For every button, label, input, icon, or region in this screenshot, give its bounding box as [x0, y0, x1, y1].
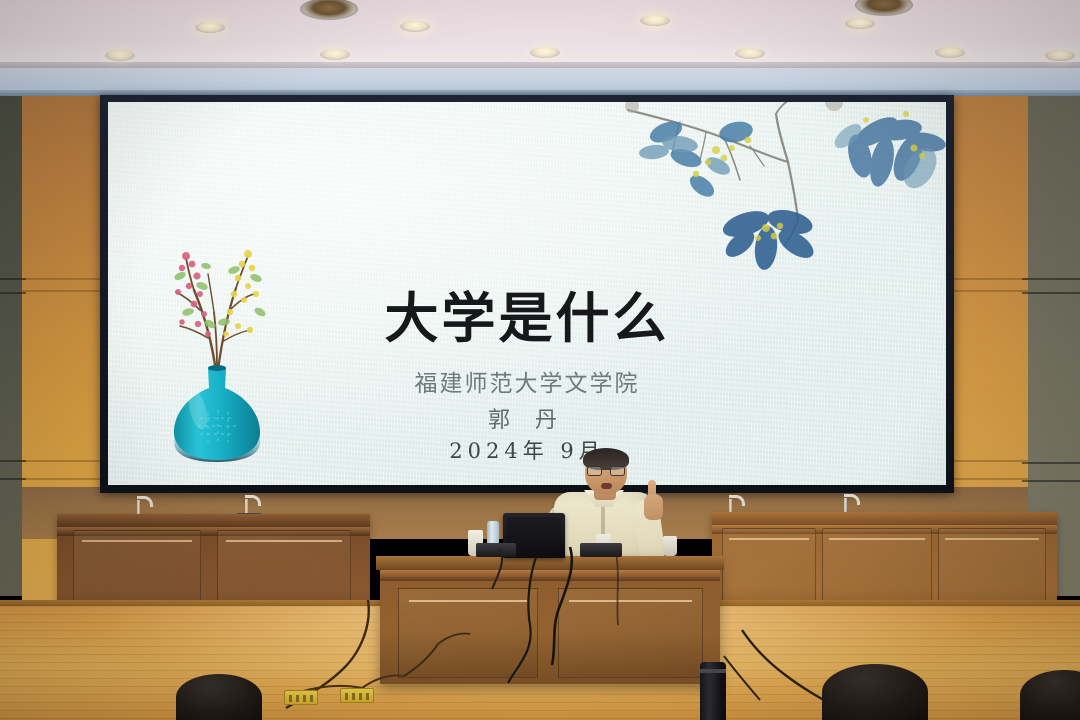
- wall-seam: [0, 278, 26, 280]
- wall-seam: [22, 460, 104, 462]
- power-strip: [340, 688, 374, 703]
- downlight-icon: [105, 50, 135, 61]
- wall-seam: [952, 290, 1028, 292]
- wall-seam: [952, 460, 1028, 462]
- wall-seam: [0, 478, 26, 480]
- downlight-icon: [195, 22, 225, 33]
- downlight-icon: [1045, 50, 1075, 61]
- wall-seam: [1022, 480, 1080, 482]
- wall-seam: [1022, 462, 1080, 464]
- wall-seam: [952, 278, 1028, 280]
- downlight-icon: [320, 49, 350, 60]
- slide-date: 2024年 9月: [108, 435, 946, 465]
- wall-seam: [0, 460, 26, 462]
- wall-seam: [22, 290, 104, 292]
- lecture-hall-photo: 大学是什么 福建师范大学文学院 郭 丹 2024年 9月: [0, 0, 1080, 720]
- wall-seam: [22, 278, 104, 280]
- wall-seam: [0, 292, 26, 294]
- slide-author: 郭 丹: [108, 402, 946, 434]
- downlight-icon: [935, 47, 965, 58]
- downlight-icon: [640, 15, 670, 26]
- slide-subtitle: 福建师范大学文学院: [108, 364, 946, 398]
- wall-seam: [952, 478, 1028, 480]
- thermos-bottle: [700, 662, 726, 720]
- wall-seam: [22, 478, 104, 480]
- audience-head: [822, 664, 928, 720]
- downlight-icon: [400, 21, 430, 32]
- led-screen-bezel: 大学是什么 福建师范大学文学院 郭 丹 2024年 9月: [100, 95, 954, 493]
- wall-seam: [1022, 292, 1080, 294]
- audience-head: [176, 674, 262, 720]
- wall-seam: [1022, 278, 1080, 280]
- presenter-mouth: [601, 483, 612, 489]
- glasses-icon: [587, 466, 625, 476]
- ink-branch-svg: [620, 102, 946, 281]
- downlight-icon: [845, 18, 875, 29]
- downlight-icon: [735, 48, 765, 59]
- power-strip: [284, 690, 318, 705]
- downlight-icon: [530, 47, 560, 58]
- presentation-screen: 大学是什么 福建师范大学文学院 郭 丹 2024年 9月: [108, 102, 946, 485]
- ink-painting-decoration: [620, 102, 946, 281]
- slide-title: 大学是什么: [108, 274, 946, 353]
